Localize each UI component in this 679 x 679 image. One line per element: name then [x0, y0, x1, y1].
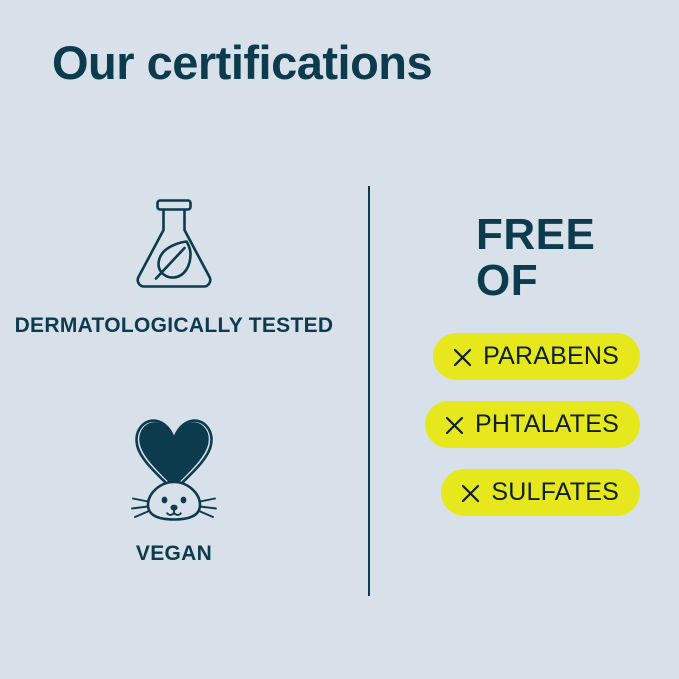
x-icon — [461, 483, 480, 502]
certification-item-dermatologically-tested: DERMATOLOGICALLY TESTED — [0, 194, 348, 338]
free-of-pill-label: PHTALATES — [475, 412, 619, 437]
free-of-heading: FREE OF — [400, 212, 640, 304]
certification-label: DERMATOLOGICALLY TESTED — [0, 313, 348, 338]
bunny-heart-ears-icon — [0, 416, 348, 527]
free-of-column: FREE OF PARABENS PHTALATES — [400, 212, 640, 516]
x-icon — [453, 347, 472, 366]
free-of-list: PARABENS PHTALATES SULFATES — [400, 333, 640, 516]
certification-item-vegan: VEGAN — [0, 416, 348, 566]
flask-leaf-icon — [0, 194, 348, 299]
free-of-pill-parabens[interactable]: PARABENS — [433, 333, 640, 380]
free-of-pill-label: SULFATES — [491, 480, 619, 505]
certifications-panel: Our certifications DERMATOLOGICALLY TEST… — [0, 0, 679, 679]
free-of-pill-label: PARABENS — [483, 344, 619, 369]
free-of-pill-phtalates[interactable]: PHTALATES — [425, 401, 640, 448]
certifications-column: DERMATOLOGICALLY TESTED — [0, 180, 348, 566]
free-of-pill-sulfates[interactable]: SULFATES — [441, 469, 640, 516]
vertical-divider — [368, 186, 370, 596]
page-title: Our certifications — [52, 36, 432, 90]
x-icon — [445, 415, 464, 434]
certification-label: VEGAN — [0, 541, 348, 566]
